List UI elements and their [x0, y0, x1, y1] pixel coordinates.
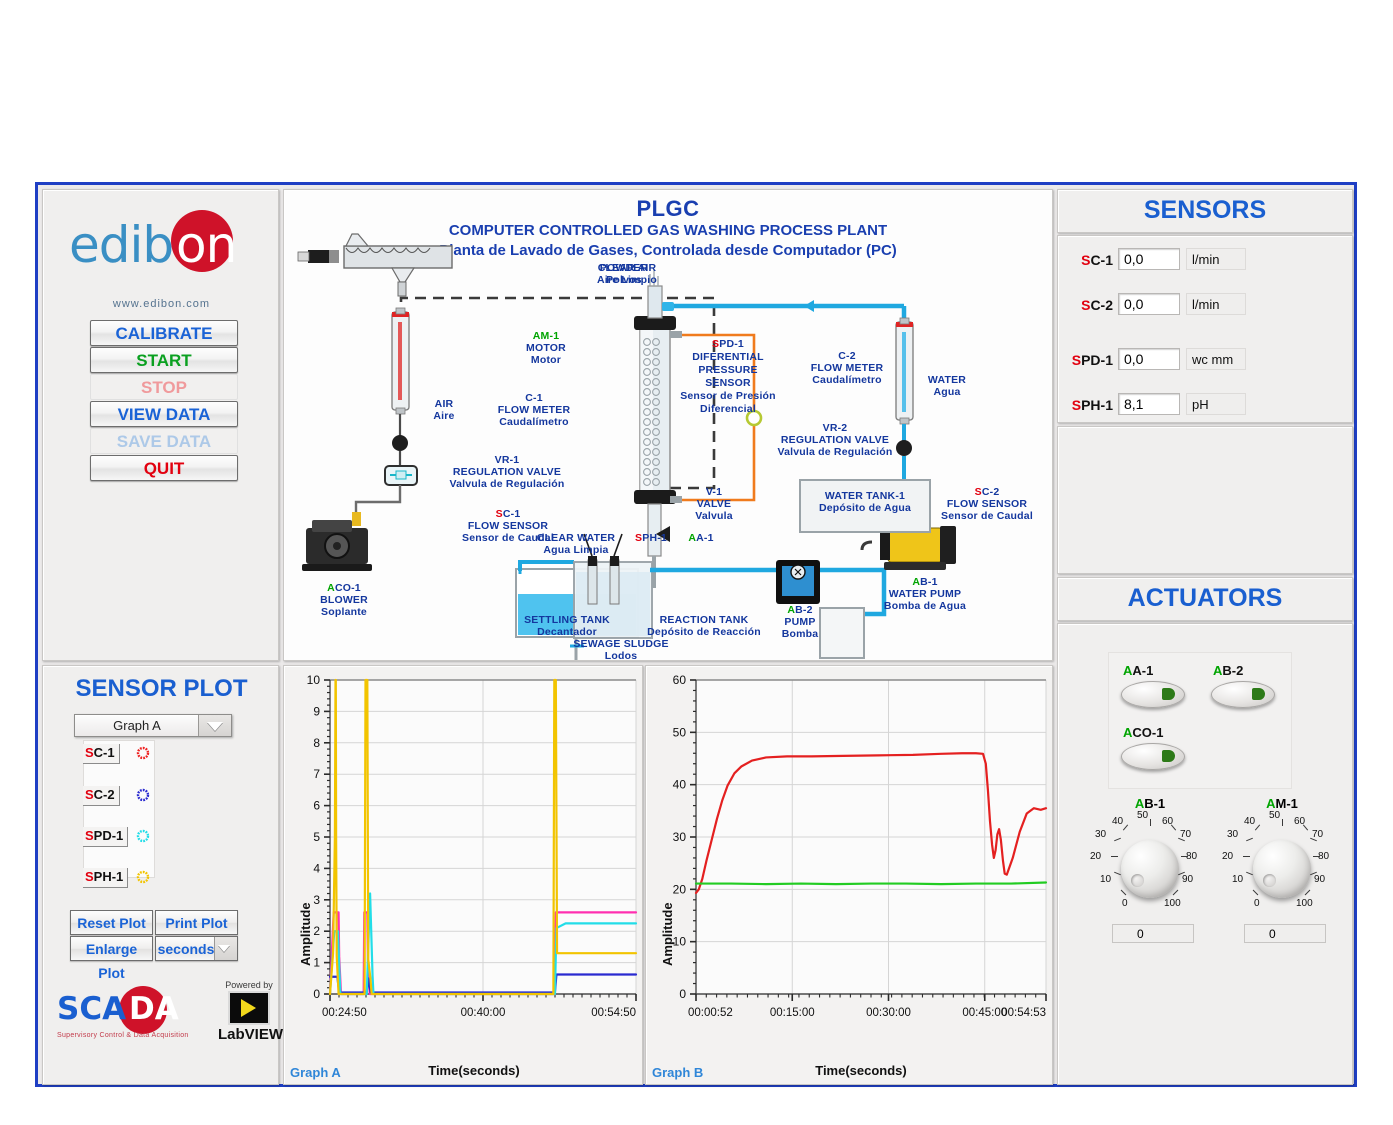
legend-item-sph1[interactable]: SPH-1 [83, 868, 183, 888]
legend-marker-sc1 [136, 746, 150, 760]
graph-a-plot[interactable]: 01234567891000:24:5000:40:0000:54:50 [284, 666, 642, 1046]
knob-tick-40: 40 [1244, 816, 1255, 827]
svg-text:5: 5 [313, 830, 320, 844]
powder-screw-feeder [298, 234, 452, 296]
knob-tick-0: 0 [1122, 898, 1128, 909]
svg-text:00:24:50: 00:24:50 [322, 1007, 367, 1019]
knob-ab1[interactable] [1121, 840, 1179, 898]
pipe-sc1-blower [356, 485, 400, 518]
sensors-spare-panel [1057, 426, 1353, 574]
svg-text:50: 50 [673, 725, 687, 739]
label-v1-valve: V-1VALVEValvula [674, 486, 754, 522]
label-vr2-regulation-valve: VR-2REGULATION VALVEValvula de Regulació… [754, 422, 916, 458]
svg-text:60: 60 [673, 673, 687, 687]
label-reaction-tank: REACTION TANKDepósito de Reacción [624, 614, 784, 638]
graph-select-dropdown[interactable]: Graph A [74, 714, 232, 737]
knob-tick-90: 90 [1314, 874, 1325, 885]
label-vr1-regulation-valve: VR-1REGULATION VALVEValvula de Regulació… [414, 454, 600, 490]
svg-text:10: 10 [307, 673, 321, 687]
svg-text:3: 3 [313, 893, 320, 907]
graph-b-plot[interactable]: 010203040506000:00:5200:15:0000:30:0000:… [646, 666, 1052, 1046]
label-spd1-differential-pressure-sensor: SPD-1DIFERENTIAL PRESSURE SENSORSensor d… [676, 338, 780, 416]
svg-text:7: 7 [313, 767, 320, 781]
label-aa1: AA-1 [676, 532, 726, 544]
stop-button: STOP [90, 374, 238, 400]
c1-flow-meter [392, 308, 409, 414]
chevron-down-icon[interactable] [214, 937, 237, 960]
legend-marker-sc2 [136, 788, 150, 802]
legend-label-sph1: SPH-1 [83, 868, 128, 888]
switch-aa1[interactable] [1121, 681, 1185, 708]
main-button-stack: CALIBRATE START STOP VIEW DATA SAVE DATA… [90, 320, 238, 482]
graph-select-value: Graph A [75, 718, 199, 733]
knob-value-ab1[interactable]: 0 [1112, 924, 1194, 943]
knob-group-am1: AM-1 0 10 20 30 40 50 60 70 80 90 100 0 [1222, 796, 1342, 946]
scada-logo-text-da: DA [129, 991, 179, 1027]
scada-logo: SCA DA Supervisory Control & Data Acquis… [57, 986, 197, 1042]
sc1-flow-sensor [385, 466, 417, 485]
svg-text:00:00:52: 00:00:52 [688, 1007, 733, 1019]
svg-text:40: 40 [673, 778, 687, 792]
graph-a-xlabel: Time(seconds) [324, 1063, 624, 1078]
knob-label-am1: AM-1 [1222, 796, 1342, 811]
time-units-value: seconds [156, 937, 216, 961]
knob-tick-90: 90 [1182, 874, 1193, 885]
svg-text:00:30:00: 00:30:00 [866, 1007, 911, 1019]
edibon-logo: edib on www.edibon.com [43, 216, 280, 290]
column-downcomer [648, 504, 661, 556]
sensors-panel: SC-1 0,0 l/min SC-2 0,0 l/min SPD-1 0,0 … [1057, 235, 1353, 423]
labview-badge: Powered by LabVIEW [218, 980, 280, 1043]
graph-b-xlabel: Time(seconds) [696, 1063, 1026, 1078]
calibrate-button[interactable]: CALIBRATE [90, 320, 238, 346]
start-button[interactable]: START [90, 347, 238, 373]
switch-label-aco1: ACO-1 [1123, 725, 1163, 740]
legend-marker-sph1 [136, 870, 150, 884]
sensor-unit-sc2: l/min [1186, 293, 1246, 315]
label-am1-motor: AM-1MOTORMotor [498, 330, 594, 366]
svg-text:0: 0 [679, 987, 686, 1001]
legend-item-sc1[interactable]: SC-1 [83, 744, 183, 764]
knob-tick-50: 50 [1269, 810, 1280, 821]
sensor-plot-panel: SENSOR PLOT Graph A SC-1 SC-2 SPD-1 SPH-… [42, 665, 279, 1085]
reset-plot-button[interactable]: Reset Plot [70, 910, 153, 935]
aco1-blower [302, 520, 372, 571]
sensor-value-sph1[interactable]: 8,1 [1118, 393, 1180, 415]
column-bottom-flange [634, 490, 676, 504]
label-aco1-blower: ACO-1BLOWERSoplante [284, 582, 404, 618]
knob-tick-30: 30 [1095, 829, 1106, 840]
knob-tick-10: 10 [1100, 874, 1111, 885]
knob-label-ab1: AB-1 [1090, 796, 1210, 811]
print-plot-button[interactable]: Print Plot [155, 910, 238, 935]
scada-application-window: edib on www.edibon.com CALIBRATE START S… [35, 182, 1357, 1087]
label-ab1-water-pump: AB-1WATER PUMPBomba de Agua [862, 576, 988, 612]
svg-text:8: 8 [313, 736, 320, 750]
scada-logo-subtitle: Supervisory Control & Data Acquisition [57, 1032, 189, 1039]
label-sph1: SPH-1 [622, 532, 680, 544]
time-units-dropdown[interactable]: seconds [155, 936, 238, 961]
knob-am1[interactable] [1253, 840, 1311, 898]
label-clear-water: CLEAR WATERAgua Limpia [522, 532, 630, 556]
label-ab2-pump: AB-2PUMPBomba [770, 604, 830, 640]
sensor-label-sc1: SC-1 [1058, 252, 1113, 268]
blower-outlet [352, 512, 361, 526]
svg-text:9: 9 [313, 704, 320, 718]
label-sewage-sludge: SEWAGE SLUDGELodos [536, 638, 706, 662]
sensor-value-spd1[interactable]: 0,0 [1118, 348, 1180, 370]
scada-logo-text: SCA [57, 991, 126, 1027]
legend-item-sc2[interactable]: SC-2 [83, 786, 183, 806]
labview-icon [228, 991, 270, 1025]
knob-tick-0: 0 [1254, 898, 1260, 909]
graph-b-panel: 010203040506000:00:5200:15:0000:30:0000:… [645, 665, 1053, 1085]
sensors-title: SENSORS [1058, 196, 1352, 225]
graph-b-ylabel: Amplitude [660, 902, 675, 966]
svg-text:00:54:53: 00:54:53 [1001, 1007, 1046, 1019]
enlarge-plot-button[interactable]: Enlarge Plot [70, 936, 153, 961]
graph-a-name: Graph A [290, 1065, 341, 1080]
knob-tick-40: 40 [1112, 816, 1123, 827]
svg-text:30: 30 [673, 830, 687, 844]
sensor-label-sc2: SC-2 [1058, 297, 1113, 313]
legend-marker-spd1 [136, 829, 150, 843]
labview-powered-by: Powered by [218, 980, 280, 990]
knob-value-am1[interactable]: 0 [1244, 924, 1326, 943]
knob-tick-10: 10 [1232, 874, 1243, 885]
switch-ab2[interactable] [1211, 681, 1275, 708]
sensor-label-sph1: SPH-1 [1058, 397, 1113, 413]
actuators-header: ACTUATORS [1057, 577, 1353, 621]
knob-group-ab1: AB-1 0 10 20 30 40 50 60 70 80 90 100 0 [1090, 796, 1210, 946]
process-diagram-panel: PLGC COMPUTER CONTROLLED GAS WASHING PRO… [283, 189, 1053, 661]
svg-text:2: 2 [313, 924, 320, 938]
label-water-tank-1: WATER TANK-1Depósito de Agua [802, 490, 928, 514]
edibon-url: www.edibon.com [43, 298, 280, 310]
labview-name: LabVIEW [218, 1026, 280, 1043]
actuators-title: ACTUATORS [1058, 584, 1352, 613]
actuators-panel: AA-1 AB-2 ACO-1 AB-1 0 10 20 30 40 50 60… [1057, 623, 1353, 1085]
svg-text:00:40:00: 00:40:00 [461, 1007, 506, 1019]
label-c1-flow-meter: C-1FLOW METERCaudalímetro [474, 392, 594, 428]
flow-arrow-left [804, 300, 814, 312]
label-settling-tank: SETTLING TANKDecantador [506, 614, 628, 638]
label-air: AIRAire [416, 398, 472, 422]
svg-text:0: 0 [313, 987, 320, 1001]
legend-label-spd1: SPD-1 [83, 827, 128, 847]
sensor-plot-title: SENSOR PLOT [43, 675, 280, 703]
svg-text:1: 1 [313, 956, 320, 970]
label-sc2-flow-sensor: SC-2FLOW SENSORSensor de Caudal [924, 486, 1050, 522]
knob-tick-100: 100 [1296, 898, 1313, 909]
chevron-down-icon[interactable] [198, 715, 231, 736]
svg-text:00:15:00: 00:15:00 [770, 1007, 815, 1019]
sensor-label-spd1: SPD-1 [1058, 352, 1113, 368]
vr1-valve-icon [392, 435, 408, 451]
knob-tick-50: 50 [1137, 810, 1148, 821]
graph-b-name: Graph B [652, 1065, 703, 1080]
switch-label-ab2: AB-2 [1213, 663, 1243, 678]
edibon-logo-text: edib [69, 216, 173, 274]
knob-tick-100: 100 [1164, 898, 1181, 909]
edibon-logo-text-on: on [176, 216, 236, 274]
graph-a-ylabel: Amplitude [298, 902, 313, 966]
label-water: WATERAgua [914, 374, 980, 398]
knob-tick-20: 20 [1222, 851, 1233, 862]
svg-text:00:54:50: 00:54:50 [591, 1007, 636, 1019]
actuator-switch-group: AA-1 AB-2 ACO-1 [1108, 652, 1292, 789]
knob-tick-20: 20 [1090, 851, 1101, 862]
label-c2-flow-meter: C-2FLOW METERCaudalímetro [784, 350, 910, 386]
knob-tick-30: 30 [1227, 829, 1238, 840]
svg-text:4: 4 [313, 861, 320, 875]
label-clear-air: CLEAR AIRAire Limpio [562, 262, 692, 286]
view-data-button[interactable]: VIEW DATA [90, 401, 238, 427]
sensor-value-sc2[interactable]: 0,0 [1118, 293, 1180, 315]
graph-a-panel: 01234567891000:24:5000:40:0000:54:50 Amp… [283, 665, 643, 1085]
svg-text:6: 6 [313, 799, 320, 813]
svg-text:20: 20 [673, 882, 687, 896]
switch-aco1[interactable] [1121, 743, 1185, 770]
sensors-header: SENSORS [1057, 189, 1353, 233]
quit-button[interactable]: QUIT [90, 455, 238, 481]
ab2-pump [776, 560, 820, 604]
legend-label-sc1: SC-1 [83, 744, 120, 764]
branding-and-controls-panel: edib on www.edibon.com CALIBRATE START S… [42, 189, 279, 661]
save-data-button: SAVE DATA [90, 428, 238, 454]
sensor-value-sc1[interactable]: 0,0 [1118, 248, 1180, 270]
legend-label-sc2: SC-2 [83, 786, 120, 806]
legend-item-spd1[interactable]: SPD-1 [83, 827, 183, 847]
sensor-unit-spd1: wc mm [1186, 348, 1246, 370]
sensor-unit-sph1: pH [1186, 393, 1246, 415]
sensor-unit-sc1: l/min [1186, 248, 1246, 270]
switch-label-aa1: AA-1 [1123, 663, 1153, 678]
